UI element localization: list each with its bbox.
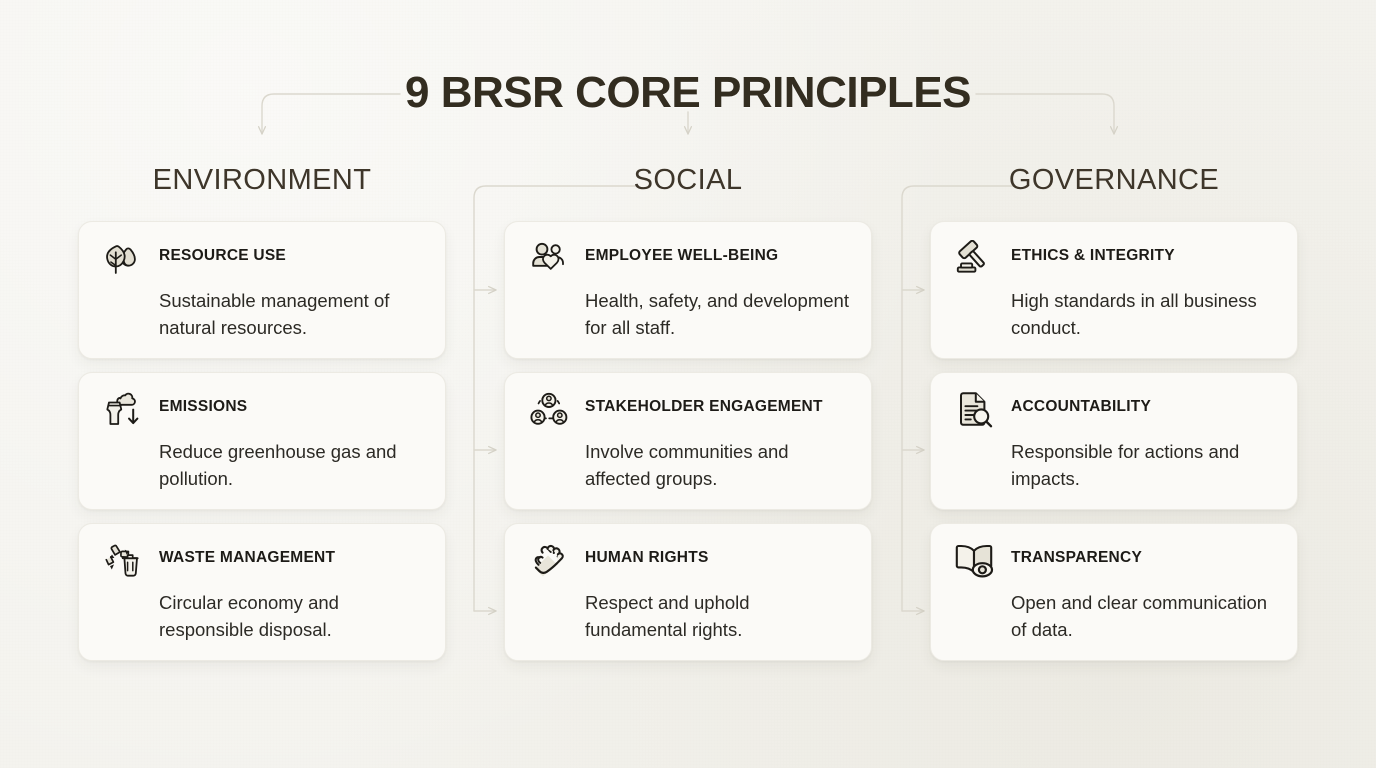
card-header: STAKEHOLDER ENGAGEMENT [527,393,849,433]
card-resource-use[interactable]: RESOURCE USE Sustainable management of n… [78,221,446,359]
card-title: RESOURCE USE [159,242,286,266]
diagram-canvas: 9 BRSR CORE PRINCIPLES ENVIRONMENT RESOU… [0,0,1376,768]
open-book-eye-icon [953,542,997,584]
card-stakeholder-engagement[interactable]: STAKEHOLDER ENGAGEMENT Involve communiti… [504,372,872,510]
card-header: EMPLOYEE WELL-BEING [527,242,849,282]
card-header: ACCOUNTABILITY [953,393,1275,433]
document-magnifier-icon [953,391,997,433]
card-title: EMPLOYEE WELL-BEING [585,242,778,266]
card-description: Circular economy and responsible disposa… [159,589,423,643]
card-title: ACCOUNTABILITY [1011,393,1151,417]
card-header: RESOURCE USE [101,242,423,282]
card-title: STAKEHOLDER ENGAGEMENT [585,393,823,417]
clasped-hands-icon [527,542,571,584]
card-title: HUMAN RIGHTS [585,544,709,568]
column-heading-governance: GOVERNANCE [930,160,1298,208]
page-title: 9 BRSR CORE PRINCIPLES [0,68,1376,118]
card-description: Reduce greenhouse gas and pollution. [159,438,423,492]
leaf-water-drop-icon [101,240,145,282]
card-description: Health, safety, and development for all … [585,287,849,341]
card-title: TRANSPARENCY [1011,544,1142,568]
card-waste-management[interactable]: WASTE MANAGEMENT Circular economy and re… [78,523,446,661]
card-header: EMISSIONS [101,393,423,433]
column-environment: ENVIRONMENT RESOURCE USE Sustainable man… [78,160,446,661]
card-ethics-integrity[interactable]: ETHICS & INTEGRITY High standards in all… [930,221,1298,359]
card-employee-well-being[interactable]: EMPLOYEE WELL-BEING Health, safety, and … [504,221,872,359]
card-description: Responsible for actions and impacts. [1011,438,1275,492]
card-accountability[interactable]: ACCOUNTABILITY Responsible for actions a… [930,372,1298,510]
column-heading-environment: ENVIRONMENT [78,160,446,208]
card-title: WASTE MANAGEMENT [159,544,335,568]
card-title: ETHICS & INTEGRITY [1011,242,1175,266]
card-description: High standards in all business conduct. [1011,287,1275,341]
card-human-rights[interactable]: HUMAN RIGHTS Respect and uphold fundamen… [504,523,872,661]
card-header: HUMAN RIGHTS [527,544,849,584]
factory-emissions-icon [101,391,145,433]
card-header: ETHICS & INTEGRITY [953,242,1275,282]
card-description: Sustainable management of natural resour… [159,287,423,341]
people-heart-icon [527,240,571,282]
column-governance: GOVERNANCE ETHICS & INTEGRITY High stand… [930,160,1298,661]
recycle-bin-icon [101,542,145,584]
card-title: EMISSIONS [159,393,247,417]
card-header: TRANSPARENCY [953,544,1275,584]
card-description: Open and clear communication of data. [1011,589,1275,643]
card-description: Involve communities and affected groups. [585,438,849,492]
column-heading-social: SOCIAL [504,160,872,208]
stakeholder-network-icon [527,391,571,433]
card-description: Respect and uphold fundamental rights. [585,589,849,643]
gavel-icon [953,240,997,282]
card-transparency[interactable]: TRANSPARENCY Open and clear communicatio… [930,523,1298,661]
card-header: WASTE MANAGEMENT [101,544,423,584]
column-social: SOCIAL EMPLOYEE WELL-BEING Health, safet… [504,160,872,661]
card-emissions[interactable]: EMISSIONS Reduce greenhouse gas and poll… [78,372,446,510]
